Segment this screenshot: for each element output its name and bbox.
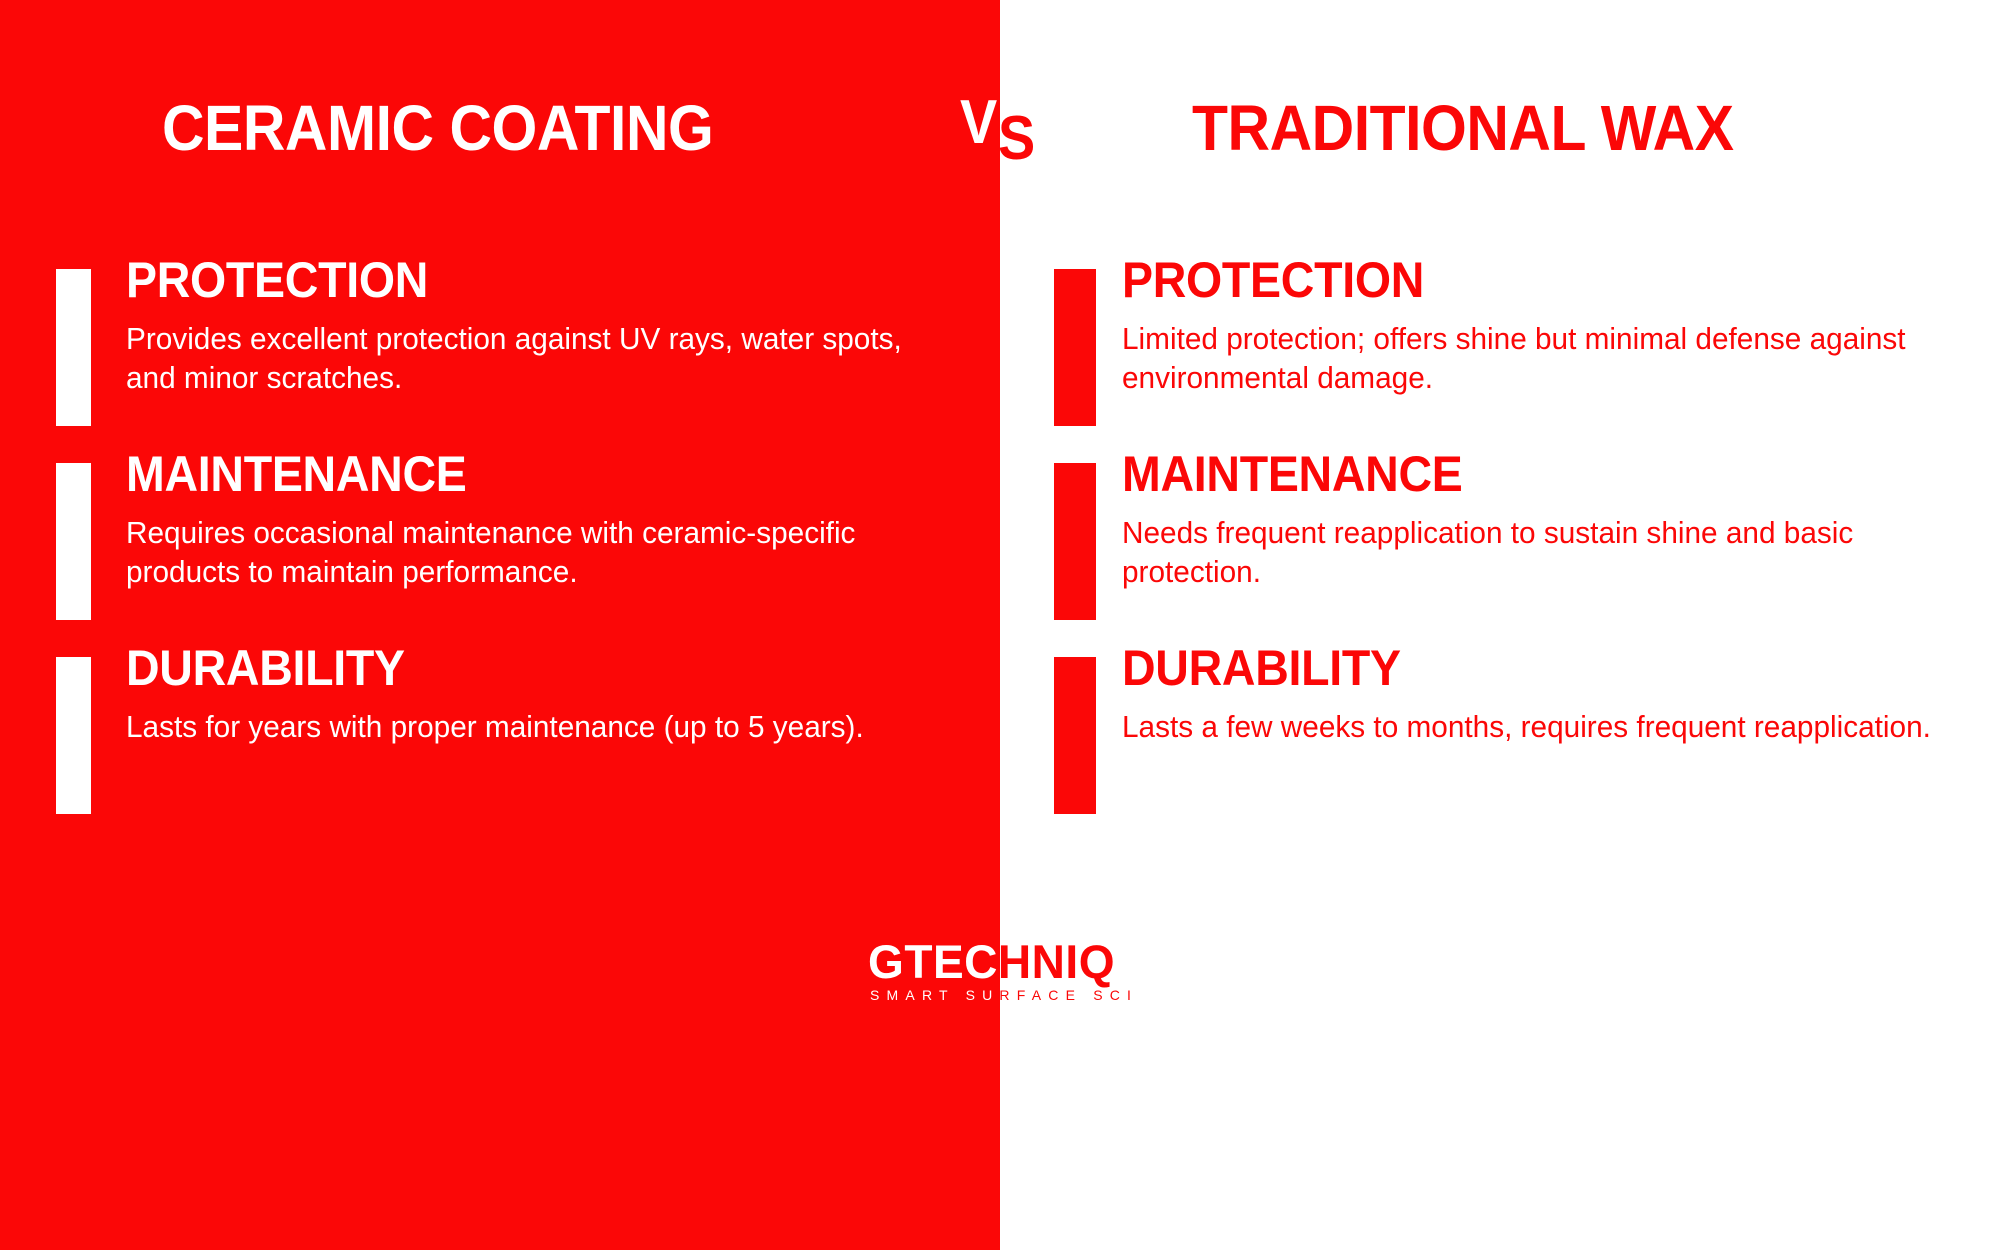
row-title: MAINTENANCE [1122, 449, 1914, 499]
accent-bar [1054, 463, 1096, 620]
row-body: Needs frequent reapplication to sustain … [1122, 513, 1940, 591]
left-row-durability: DURABILITY Lasts for years with proper m… [56, 643, 976, 818]
right-column: PROTECTION Limited protection; offers sh… [1054, 255, 1974, 837]
versus-letter-v: V [960, 92, 997, 154]
row-title: DURABILITY [126, 643, 917, 693]
accent-bar [56, 463, 91, 620]
left-column-title: CERAMIC COATING [162, 96, 713, 160]
row-body: Lasts for years with proper maintenance … [126, 707, 942, 746]
versus-letter-s: S [998, 108, 1035, 170]
row-body: Requires occasional maintenance with cer… [126, 513, 942, 591]
left-row-maintenance: MAINTENANCE Requires occasional maintena… [56, 449, 976, 624]
accent-bar [56, 269, 91, 426]
accent-bar [1054, 657, 1096, 814]
brand-logo: GTECHNIQ SMART SURFACE SCIENCE GTECHNIQ … [868, 938, 1132, 1006]
accent-bar [56, 657, 91, 814]
row-body: Limited protection; offers shine but min… [1122, 319, 1940, 397]
row-body: Lasts a few weeks to months, requires fr… [1122, 707, 1940, 746]
left-column: PROTECTION Provides excellent protection… [56, 255, 976, 837]
left-row-protection: PROTECTION Provides excellent protection… [56, 255, 976, 430]
accent-bar [1054, 269, 1096, 426]
comparison-infographic: CERAMIC COATING V S TRADITIONAL WAX PROT… [0, 0, 2000, 1250]
right-row-protection: PROTECTION Limited protection; offers sh… [1054, 255, 1974, 430]
right-row-durability: DURABILITY Lasts a few weeks to months, … [1054, 643, 1974, 818]
row-title: DURABILITY [1122, 643, 1914, 693]
row-title: MAINTENANCE [126, 449, 917, 499]
versus-badge: V S [960, 92, 1070, 172]
row-title: PROTECTION [1122, 255, 1914, 305]
right-column-title: TRADITIONAL WAX [1192, 96, 1734, 160]
row-body: Provides excellent protection against UV… [126, 319, 942, 397]
right-row-maintenance: MAINTENANCE Needs frequent reapplication… [1054, 449, 1974, 624]
row-title: PROTECTION [126, 255, 917, 305]
